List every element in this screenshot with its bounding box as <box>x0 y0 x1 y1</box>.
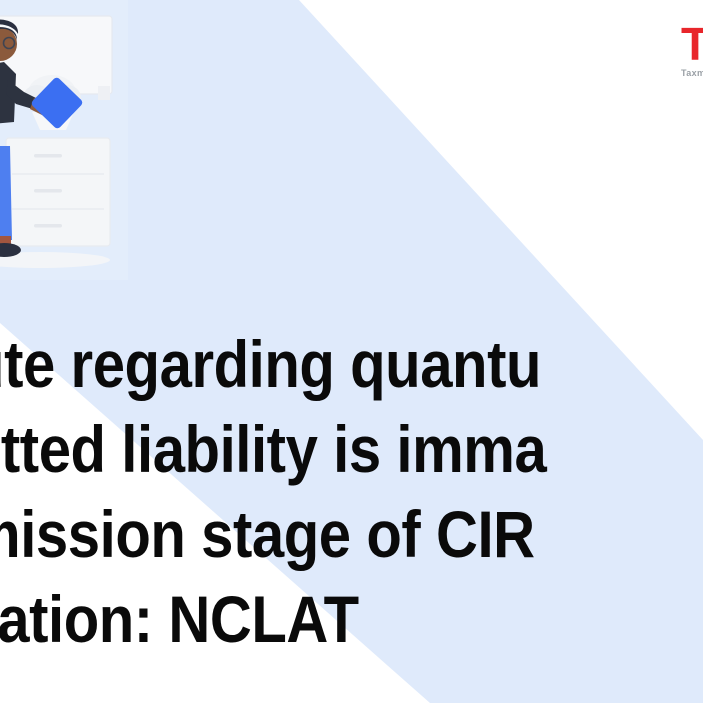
headline-line-1: pute regarding quantu <box>0 322 703 407</box>
headline: pute regarding quantu mitted liability i… <box>0 322 703 662</box>
news-card: T Taxmann pute regarding quantu mitted l… <box>0 0 703 703</box>
logo-mark-icon: T <box>681 22 703 66</box>
logo-wordmark: Taxmann <box>681 68 703 78</box>
headline-line-2: mitted liability is imma <box>0 407 703 492</box>
headline-line-3: dmission stage of CIR <box>0 492 703 577</box>
illustration-panel <box>0 0 128 280</box>
person-with-document-illustration <box>0 0 128 280</box>
brand-logo[interactable]: T Taxmann <box>681 22 703 78</box>
headline-line-4: lication: NCLAT <box>0 577 703 662</box>
